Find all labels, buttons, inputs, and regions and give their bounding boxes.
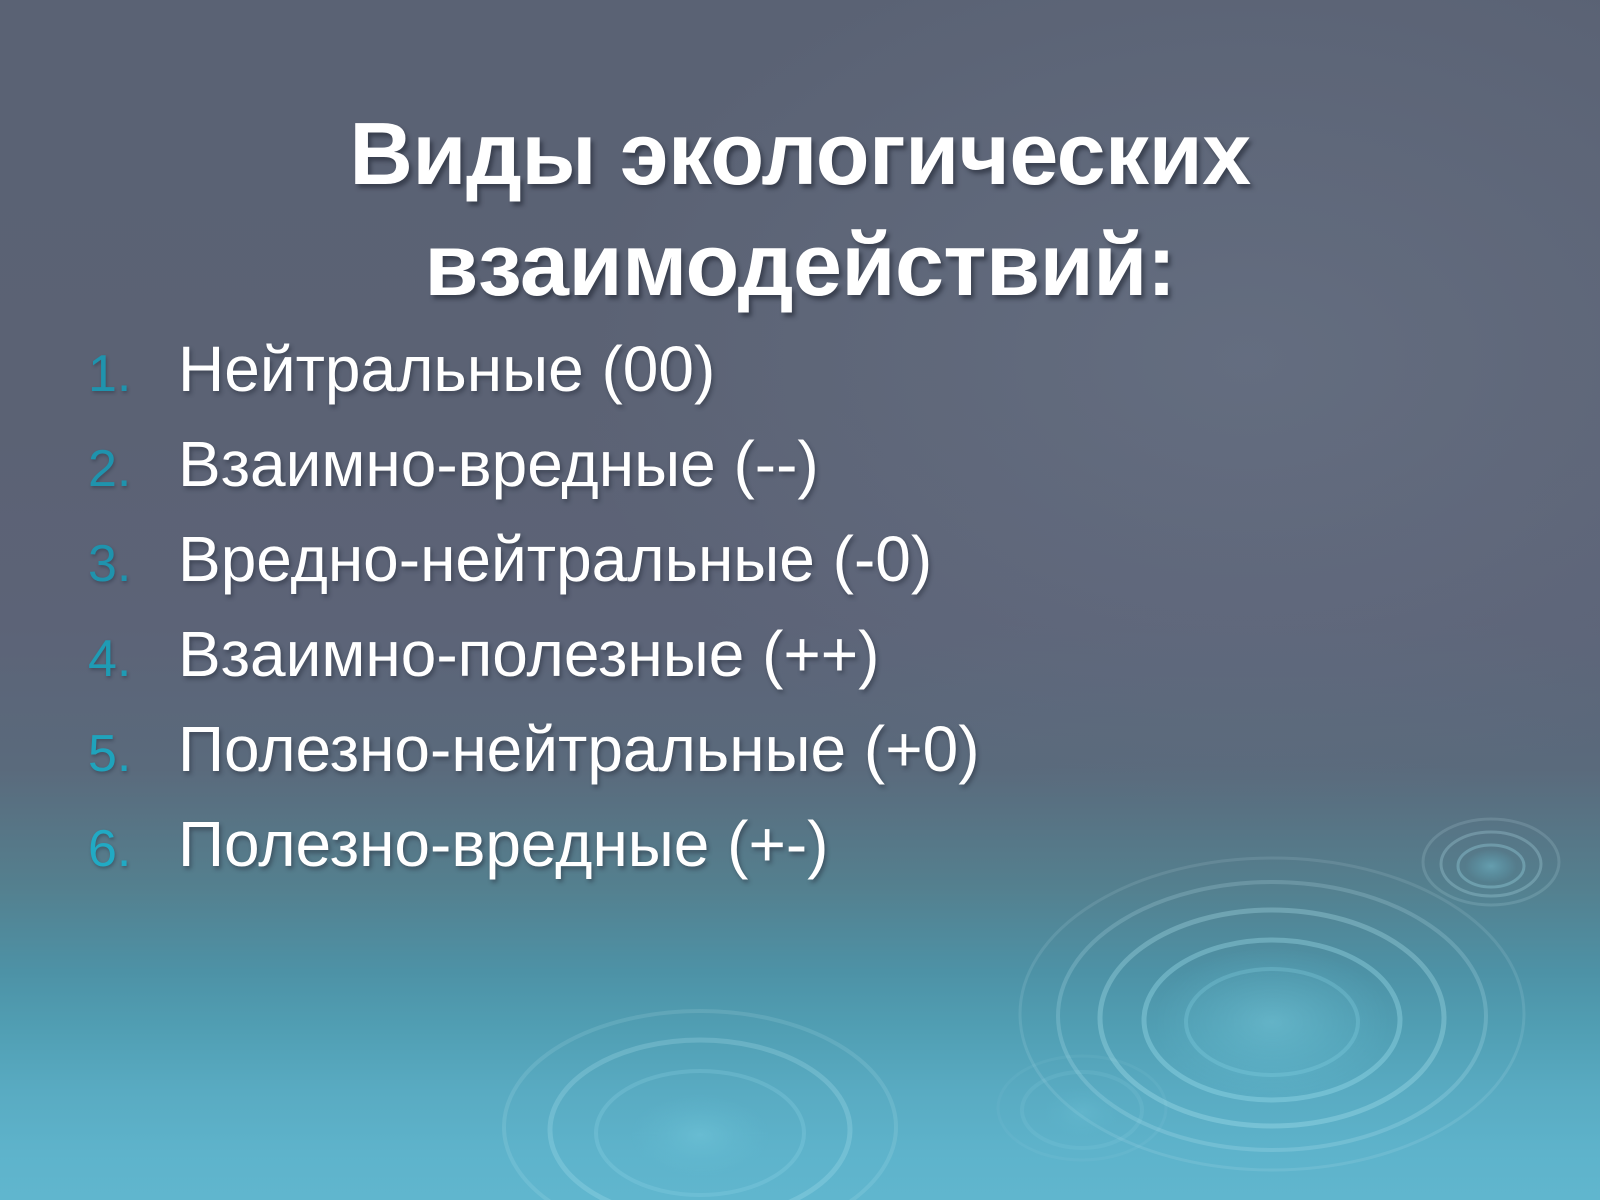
list-item: 5. Полезно-нейтральные (+0)	[88, 712, 1508, 807]
list-item: 1. Нейтральные (00)	[88, 332, 1508, 427]
ripple-bottom-center	[504, 1011, 896, 1200]
slide-title: Виды экологических взаимодействий:	[0, 99, 1600, 321]
list-item-number: 1.	[88, 344, 178, 404]
presentation-slide: Виды экологических взаимодействий: 1. Не…	[0, 0, 1600, 1200]
list-item-label: Нейтральные (00)	[178, 332, 1508, 406]
list-item: 4. Взаимно-полезные (++)	[88, 617, 1508, 712]
list-item-label: Взаимно-полезные (++)	[178, 617, 1508, 691]
list-item-number: 3.	[88, 534, 178, 594]
list-item-label: Вредно-нейтральные (-0)	[178, 522, 1508, 596]
list-item-number: 4.	[88, 629, 178, 689]
ripple-faint-left	[998, 1056, 1166, 1160]
list-item-label: Взаимно-вредные (--)	[178, 427, 1508, 501]
list-item: 2. Взаимно-вредные (--)	[88, 427, 1508, 522]
list-item-number: 5.	[88, 724, 178, 784]
list-item-number: 6.	[88, 819, 178, 879]
list-item-label: Полезно-вредные (+-)	[178, 807, 1508, 881]
ripple-large-bottom-right	[1020, 858, 1524, 1170]
interaction-types-list: 1. Нейтральные (00) 2. Взаимно-вредные (…	[88, 332, 1508, 902]
list-item: 3. Вредно-нейтральные (-0)	[88, 522, 1508, 617]
list-item: 6. Полезно-вредные (+-)	[88, 807, 1508, 902]
list-item-label: Полезно-нейтральные (+0)	[178, 712, 1508, 786]
list-item-number: 2.	[88, 439, 178, 499]
